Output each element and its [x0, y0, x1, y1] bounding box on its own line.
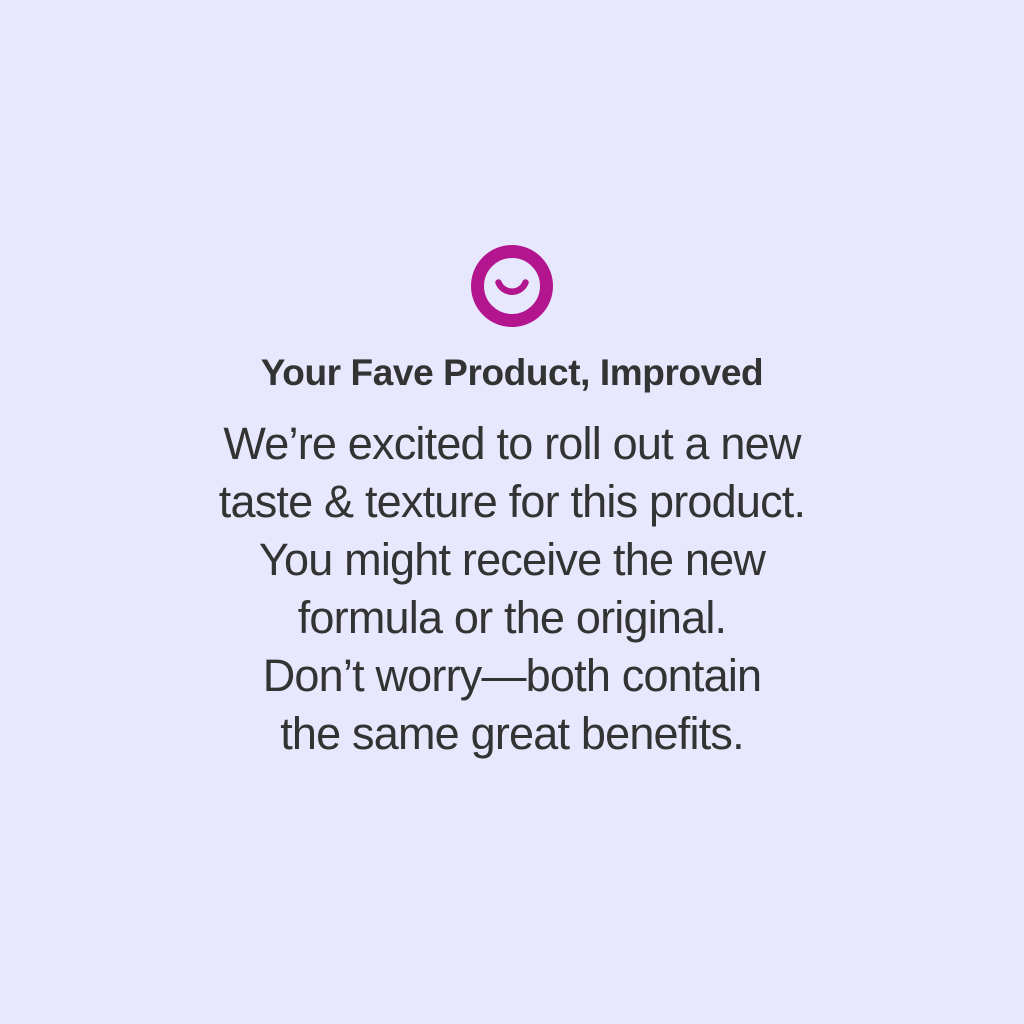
page-title: Your Fave Product, Improved: [261, 354, 764, 393]
announcement-body: We’re excited to roll out a newtaste & t…: [62, 415, 962, 763]
body-line: We’re excited to roll out a new: [62, 415, 962, 473]
body-line: You might receive the new: [62, 531, 962, 589]
smiley-face-ring-logo: [471, 245, 553, 327]
body-line: formula or the original.: [62, 589, 962, 647]
body-line: taste & texture for this product.: [62, 473, 962, 531]
body-line: Don’t worry—both contain: [62, 647, 962, 705]
body-line: the same great benefits.: [62, 705, 962, 763]
product-announcement-card: Your Fave Product, Improved We’re excite…: [0, 0, 1024, 1024]
